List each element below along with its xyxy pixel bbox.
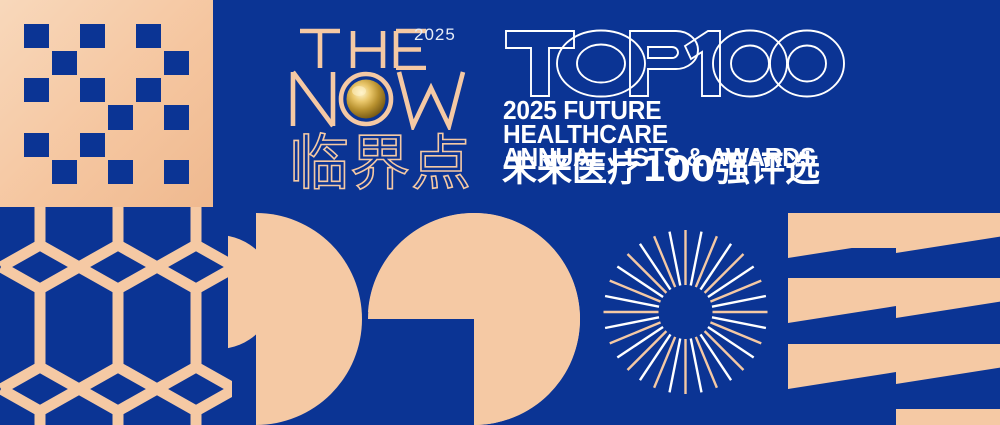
checker-cell [52,51,77,75]
checker-cell [80,24,105,48]
subtitle-chinese: 未来医疗100强评选 [502,151,847,189]
hexagon-lattice-pattern [0,207,232,425]
checker-cell [108,160,133,184]
checker-cell [52,105,77,129]
checker-cell [164,24,189,48]
logo-the [297,26,429,70]
headline-top100 [500,22,845,107]
logo-year: 2025 [414,25,456,45]
checker-cell [24,51,49,75]
checker-cell [136,51,161,75]
logo-now [289,68,477,130]
checker-cell [80,105,105,129]
checker-cell [80,133,105,157]
logo-block: 2025 [289,22,489,192]
checker-cell [108,133,133,157]
banner-root: 2025 [0,0,1000,425]
checker-cell [80,160,105,184]
checker-cell [136,105,161,129]
half-circle-shapes [228,200,588,425]
checker-cell [136,24,161,48]
checker-cell [52,78,77,102]
checker-cell [80,78,105,102]
checker-cell [24,133,49,157]
checker-cell [164,78,189,102]
checker-cell [52,160,77,184]
checker-cell [24,105,49,129]
checker-cell [136,133,161,157]
logo-chinese: 临界点 [289,130,481,196]
checker-grid [24,24,189,184]
checker-cell [108,105,133,129]
checker-cell [108,24,133,48]
checker-cell [108,51,133,75]
checker-cell [164,105,189,129]
checker-cell [136,160,161,184]
checker-cell [80,51,105,75]
checker-cell [136,78,161,102]
svg-text:临界点: 临界点 [289,130,472,196]
checker-cell [52,24,77,48]
checker-cell [164,51,189,75]
gold-sphere [347,80,386,119]
checker-cell [24,160,49,184]
checker-grid-panel [0,0,213,207]
sunburst-rays [588,200,783,425]
checker-cell [164,133,189,157]
checker-cell [164,160,189,184]
checker-cell [24,78,49,102]
diagonal-stripe-blocks [783,196,1000,425]
checker-cell [24,24,49,48]
checker-cell [108,78,133,102]
checker-cell [52,133,77,157]
title-block: 2025 FUTURE HEALTHCARE ANNUAL LISTS & AW… [500,20,850,195]
